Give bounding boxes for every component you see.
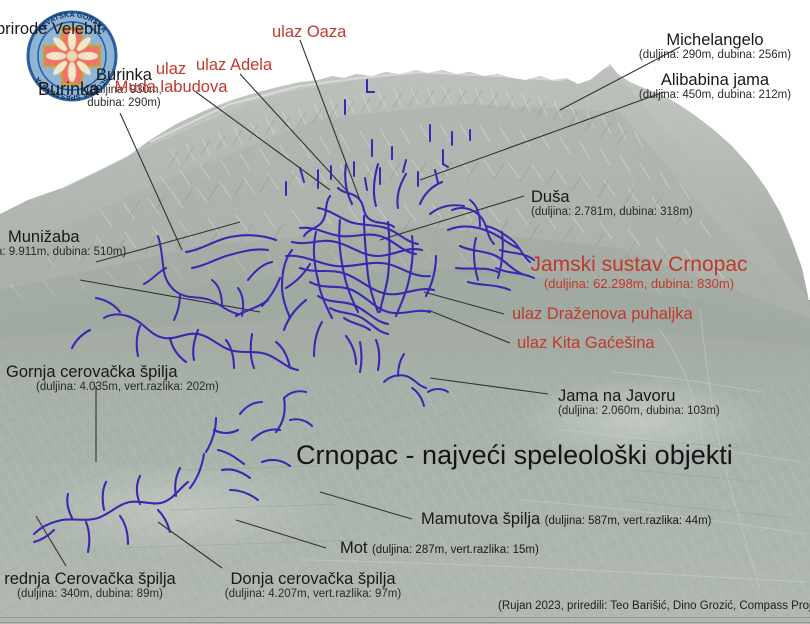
label-gornja-cerovacka-spilja-sub: (duljina: 4.035m, vert.razlika: 202m) bbox=[36, 381, 219, 394]
label-munizaba-name: Munižaba bbox=[8, 228, 126, 246]
label-ulaz-drazenova-puhaljka: ulaz Draženova puhaljka bbox=[512, 305, 693, 323]
label-michelangelo-name: Michelangelo bbox=[620, 31, 810, 49]
poster-canvas: HRVATSKA GORSKA SLUZBA SPASAVANJA bbox=[0, 0, 810, 624]
label-jama-na-javoru: Jama na Javoru (duljina: 2.060m, dubina:… bbox=[558, 387, 720, 418]
label-mot-name: Mot bbox=[340, 539, 368, 557]
label-ulaz-adela-name: ulaz Adela bbox=[196, 56, 272, 74]
label-mamutova-spilja-sub: (duljina: 587m, vert.razlika: 44m) bbox=[545, 515, 712, 527]
label-munizaba-sub: a: 9.911m, dubina: 510m) bbox=[0, 246, 126, 259]
label-burinka-sub-line2: dubina: 290m) bbox=[64, 97, 184, 110]
label-dusa-sub: (duljina: 2.781m, dubina: 318m) bbox=[531, 206, 693, 219]
label-ulaz-kita-gacesina: ulaz Kita Gaćešina bbox=[517, 334, 655, 352]
label-gornja-cerovacka-spilja: Gornja cerovačka špilja (duljina: 4.035m… bbox=[6, 363, 219, 394]
label-ulaz-oaza-name: ulaz Oaza bbox=[272, 23, 346, 41]
page-title: Crnopac - najveći speleološki objekti bbox=[296, 440, 733, 471]
label-donja-cerovacka-spilja: Donja cerovačka špilja (duljina: 4.207m,… bbox=[213, 570, 413, 601]
label-ulaz-kita-gacesina-name: ulaz Kita Gaćešina bbox=[517, 334, 655, 352]
label-jamski-sustav-crnopac: Jamski sustav Crnopac (duljina: 62.298m,… bbox=[509, 253, 769, 291]
label-srednja-cerovacka-spilja-name: rednja Cerovačka špilja bbox=[0, 570, 188, 588]
label-munizaba: Munižaba a: 9.911m, dubina: 510m) bbox=[8, 228, 126, 259]
label-jamski-sustav-crnopac-sub: (duljina: 62.298m, dubina: 830m) bbox=[509, 277, 769, 292]
label-srednja-cerovacka-spilja-sub: (duljina: 340m, dubina: 89m) bbox=[0, 588, 188, 601]
logo-caption-name-text: Burinka bbox=[38, 79, 99, 99]
label-jama-na-javoru-name: Jama na Javoru bbox=[558, 387, 720, 405]
logo-caption-over: prirode Velebit bbox=[0, 20, 102, 38]
label-donja-cerovacka-spilja-sub: (duljina: 4.207m, vert.razlika: 97m) bbox=[213, 588, 413, 601]
credit-line: (Rujan 2023, priredili: Teo Barišić, Din… bbox=[498, 600, 810, 612]
label-ulaz-adela: ulaz Adela bbox=[196, 56, 272, 74]
label-michelangelo-sub: (duljina: 290m, dubina: 256m) bbox=[620, 49, 810, 62]
label-alibabina-jama-sub: (duljina: 450m, dubina: 212m) bbox=[620, 89, 810, 102]
label-donja-cerovacka-spilja-name: Donja cerovačka špilja bbox=[213, 570, 413, 588]
label-michelangelo: Michelangelo (duljina: 290m, dubina: 256… bbox=[620, 31, 810, 62]
label-ulaz-drazenova-puhaljka-name: ulaz Draženova puhaljka bbox=[512, 305, 693, 323]
label-mot-sub: (duljina: 287m, vert.razlika: 15m) bbox=[372, 544, 539, 556]
label-dusa: Duša (duljina: 2.781m, dubina: 318m) bbox=[531, 188, 693, 219]
label-mamutova-spilja: Mamutova špilja (duljina: 587m, vert.raz… bbox=[421, 510, 711, 529]
label-jama-na-javoru-sub: (duljina: 2.060m, dubina: 103m) bbox=[558, 405, 720, 418]
label-mamutova-spilja-name: Mamutova špilja bbox=[421, 510, 540, 528]
label-ulaz-muda-labudova-line2: Muda labudova bbox=[96, 78, 246, 96]
label-alibabina-jama-name: Alibabina jama bbox=[620, 71, 810, 89]
label-ulaz-oaza: ulaz Oaza bbox=[272, 23, 346, 41]
label-jamski-sustav-crnopac-name: Jamski sustav Crnopac bbox=[509, 253, 769, 277]
label-alibabina-jama: Alibabina jama (duljina: 450m, dubina: 2… bbox=[620, 71, 810, 102]
label-srednja-cerovacka-spilja: rednja Cerovačka špilja (duljina: 340m, … bbox=[0, 570, 188, 601]
logo-caption-over-text: prirode Velebit bbox=[0, 20, 102, 38]
label-mot: Mot (duljina: 287m, vert.razlika: 15m) bbox=[340, 539, 539, 558]
label-dusa-name: Duša bbox=[531, 188, 693, 206]
label-gornja-cerovacka-spilja-name: Gornja cerovačka špilja bbox=[6, 363, 219, 381]
logo-caption-name: Burinka bbox=[38, 79, 99, 99]
